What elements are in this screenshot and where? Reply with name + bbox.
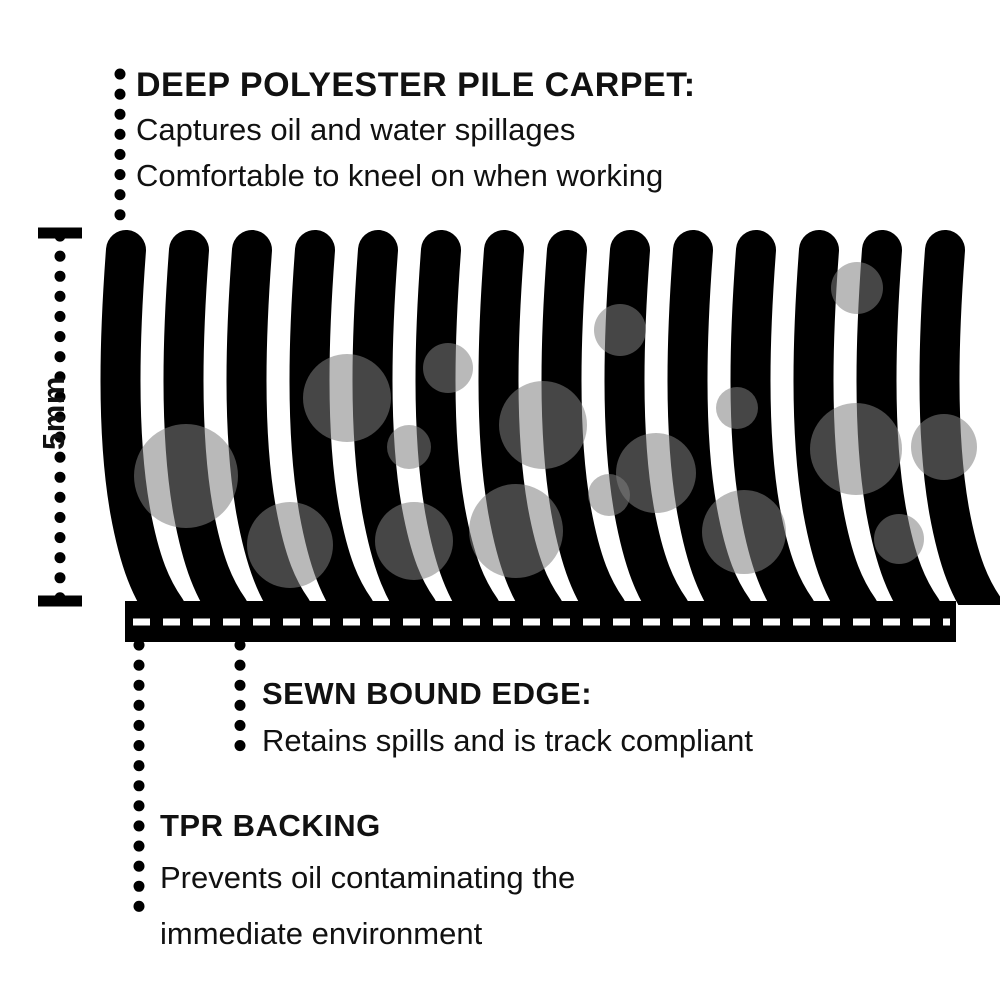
- spill-droplet: [594, 304, 646, 356]
- spill-droplet: [423, 343, 473, 393]
- callout-line-tpr-2: immediate environment: [160, 915, 575, 953]
- callout-line-tpr-1: Prevents oil contaminating the: [160, 859, 575, 897]
- spill-droplet: [616, 433, 696, 513]
- callout-heading-tpr: TPR BACKING: [160, 810, 575, 841]
- spill-droplet: [702, 490, 786, 574]
- callout-heading-carpet: DEEP POLYESTER PILE CARPET:: [136, 68, 696, 102]
- spill-droplet: [375, 502, 453, 580]
- spill-droplet: [911, 414, 977, 480]
- spill-droplet: [810, 403, 902, 495]
- callout-deep-polyester-pile-carpet: DEEP POLYESTER PILE CARPET: Captures oil…: [136, 68, 696, 194]
- pile-fiber: [121, 250, 167, 610]
- spill-droplet: [387, 425, 431, 469]
- diagram-canvas: DEEP POLYESTER PILE CARPET: Captures oil…: [0, 0, 1000, 1000]
- callout-tpr-backing: TPR BACKING Prevents oil contaminating t…: [160, 810, 575, 953]
- tpr-backing-layer: [125, 601, 956, 642]
- spill-droplet: [247, 502, 333, 588]
- pile-fiber: [625, 250, 671, 610]
- pile-height-label: 5mm: [36, 353, 72, 473]
- spill-droplet: [874, 514, 924, 564]
- callout-sewn-bound-edge: SEWN BOUND EDGE: Retains spills and is t…: [262, 678, 753, 759]
- spill-droplet: [303, 354, 391, 442]
- spill-droplet: [831, 262, 883, 314]
- callout-line-carpet-2: Comfortable to kneel on when working: [136, 158, 696, 194]
- spill-droplet: [499, 381, 587, 469]
- spill-droplet: [134, 424, 238, 528]
- callout-line-carpet-1: Captures oil and water spillages: [136, 112, 696, 148]
- callout-line-edge-1: Retains spills and is track compliant: [262, 723, 753, 759]
- spill-droplet: [469, 484, 563, 578]
- callout-heading-edge: SEWN BOUND EDGE:: [262, 678, 753, 709]
- spill-droplet: [716, 387, 758, 429]
